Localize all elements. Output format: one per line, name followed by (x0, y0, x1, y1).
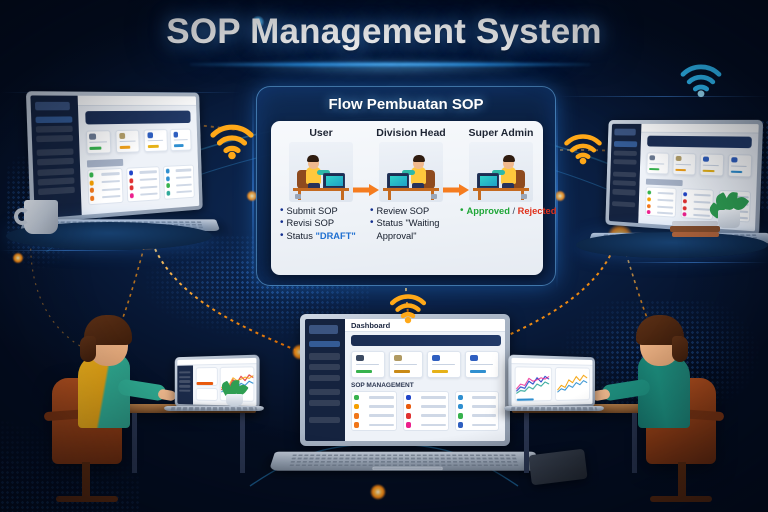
illustration-canvas: SOP Management System (0, 0, 768, 512)
background-vignette (0, 0, 768, 512)
